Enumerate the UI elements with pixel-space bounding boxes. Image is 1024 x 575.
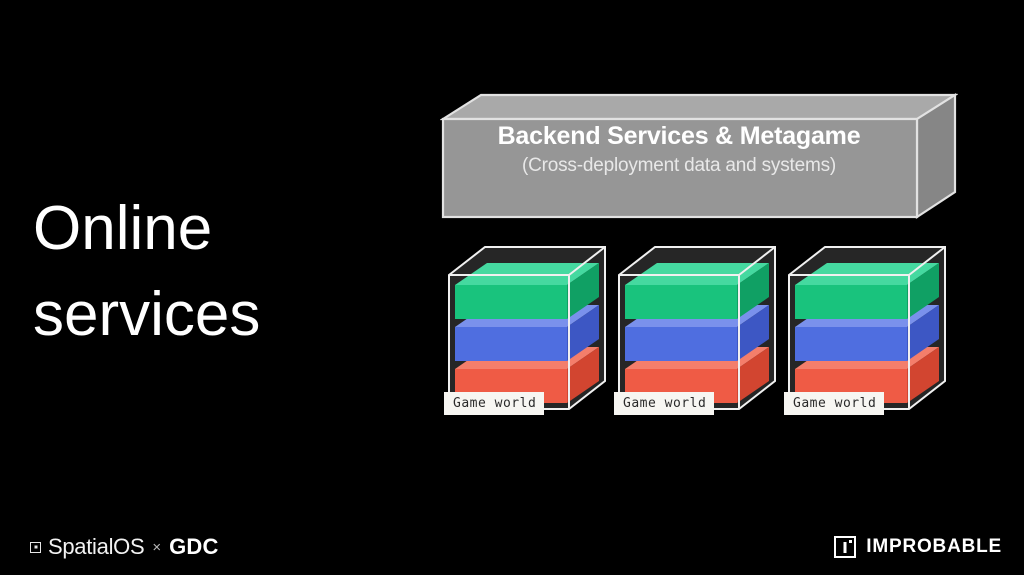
slide-canvas: Online services Backend Services & Metag… [0,0,1024,575]
cube-label: Game world [784,392,884,415]
square-dot-icon [30,542,41,553]
title-line-1: Online [33,186,373,272]
game-world-cube[interactable]: Game world [781,241,953,419]
backend-top-face [443,95,955,119]
game-world-cube[interactable]: Game world [611,241,783,419]
blue-layer-front [625,327,737,361]
gdc-wordmark: GDC [169,534,219,560]
green-layer-front [455,285,567,319]
blue-layer-front [455,327,567,361]
spatialos-gdc-logo: SpatialOS × GDC [30,532,219,562]
cube-label: Game world [444,392,544,415]
page-title: Online services [33,186,373,358]
improbable-wordmark: IMPROBABLE [866,536,1002,558]
backend-front-face [443,119,917,217]
improbable-square-icon [834,536,856,558]
blue-layer-front [795,327,907,361]
spatialos-wordmark: SpatialOS [48,534,144,560]
improbable-logo: IMPROBABLE [834,532,1002,562]
title-line-2: services [33,272,373,358]
backend-box-shape [440,93,958,220]
green-layer-front [625,285,737,319]
backend-services-box: Backend Services & Metagame (Cross-deplo… [440,93,958,220]
green-layer-front [795,285,907,319]
game-world-cube[interactable]: Game world [441,241,613,419]
logo-separator: × [151,539,162,556]
cube-label: Game world [614,392,714,415]
